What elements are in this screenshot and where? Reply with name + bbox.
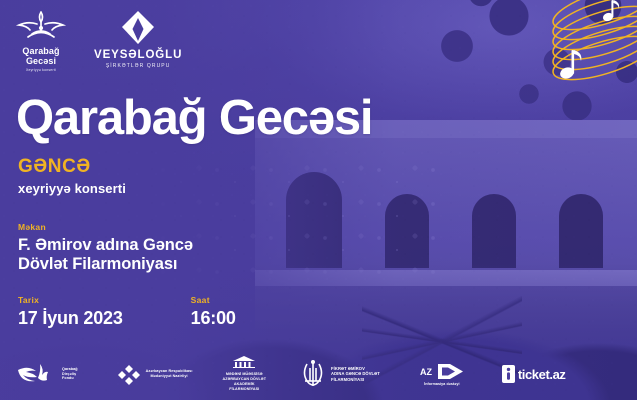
sponsor-line4: FİLARMONİYASI xyxy=(229,387,259,391)
iticket-wordmark: ticket.az xyxy=(518,367,566,382)
event-kicker: xeyriyyə konserti xyxy=(18,182,126,195)
venue-line2: Dövlət Filarmoniyası xyxy=(18,255,177,273)
sponsor-line2: Mədəniyyət Nazirliyi xyxy=(150,374,187,378)
sponsor-line2: ADINA GƏNCƏ DÖVLƏT xyxy=(331,371,380,376)
lyre-icon xyxy=(300,359,326,389)
city-subtitle: GƏNCƏ xyxy=(18,157,91,176)
aztv-mark-text: AZ xyxy=(420,367,432,377)
sponsor-line3: Fondu xyxy=(62,376,74,380)
date-block: Tarix 17 İyun 2023 xyxy=(18,295,123,327)
event-poster: Qarabağ Gecəsi Xeyriyyə konserti VEYSƏLO… xyxy=(0,0,637,400)
aztv-logo-icon: AZ xyxy=(420,363,464,380)
page-title: Qarabağ Gecəsi xyxy=(16,94,372,143)
ticketing-iticket: ticket.az xyxy=(502,365,566,383)
sponsor-dovlet-filarmoniyasi: MƏDƏNİ MÜƏSSİSƏ AZƏRBAYCAN DÖVLƏT AKADEM… xyxy=(222,356,266,392)
veyseloglu-logo-sub: ŞİRKƏTLƏR QRUPU xyxy=(106,63,171,69)
event-details: Məkan F. Əmirov adına Gəncə Dövlət Filar… xyxy=(18,222,236,327)
sponsor-line1: FİKRƏT ƏMİROV xyxy=(331,366,365,371)
qarabag-dircelis-fondu-bird-icon xyxy=(16,361,58,387)
media-partner-caption: İnformasiya dəstəyi xyxy=(424,382,459,386)
sponsor-line1: Azərbaycan Respublikası xyxy=(146,369,193,373)
sponsor-name: FİKRƏT ƏMİROV ADINA GƏNCƏ DÖVLƏT FİLARMO… xyxy=(331,366,380,383)
sponsor-line2: Dirçəliş xyxy=(62,372,76,376)
veyseloglu-logo: VEYSƏLOĞLU ŞİRKƏTLƏR QRUPU xyxy=(94,10,182,69)
date-label: Tarix xyxy=(18,295,123,305)
qarabag-gecesi-logo: Qarabağ Gecəsi Xeyriyyə konserti xyxy=(14,10,68,72)
sponsor-line1: Qarabağ xyxy=(62,367,78,371)
sponsor-bar: Qarabağ Dirçəliş Fondu Azərbaycan Respub… xyxy=(0,348,637,400)
qarabag-gecesi-logo-sub: Xeyriyyə konserti xyxy=(26,68,56,72)
qarabag-gecesi-emblem-icon xyxy=(14,10,68,44)
veyseloglu-diamond-icon xyxy=(120,10,156,46)
sponsor-line3: AKADEMİK xyxy=(234,382,255,386)
venue-value: F. Əmirov adına Gəncə Dövlət Filarmoniya… xyxy=(18,236,236,275)
logo-name-line2: Gecəsi xyxy=(26,56,56,66)
logo-name-line1: Qarabağ xyxy=(22,46,59,56)
sponsor-line1: MƏDƏNİ MÜƏSSİSƏ xyxy=(226,372,263,376)
venue-line1: F. Əmirov adına Gəncə xyxy=(18,236,193,254)
header-logo-group: Qarabağ Gecəsi Xeyriyyə konserti VEYSƏLO… xyxy=(14,10,182,72)
sponsor-line2: AZƏRBAYCAN DÖVLƏT xyxy=(222,377,266,381)
date-time-row: Tarix 17 İyun 2023 Saat 16:00 xyxy=(18,295,236,327)
medeniyyet-nazirliyi-ornament-icon xyxy=(116,363,142,385)
music-staff-swirl-icon xyxy=(507,0,637,114)
sponsor-line3: FİLARMONİYASI xyxy=(331,377,364,382)
time-value: 16:00 xyxy=(191,309,236,327)
filarmoniya-building-icon xyxy=(232,356,256,368)
date-value: 17 İyun 2023 xyxy=(18,309,123,327)
sponsor-name: MƏDƏNİ MÜƏSSİSƏ AZƏRBAYCAN DÖVLƏT AKADEM… xyxy=(222,372,266,392)
qarabag-gecesi-logo-name: Qarabağ Gecəsi xyxy=(22,47,59,66)
time-block: Saat 16:00 xyxy=(191,295,236,327)
sponsor-qarabag-dircelis-fondu: Qarabağ Dirçəliş Fondu xyxy=(16,361,78,387)
veyseloglu-logo-name: VEYSƏLOĞLU xyxy=(94,49,182,61)
iticket-mark-icon xyxy=(502,365,515,383)
media-partner-aztv: AZ İnformasiya dəstəyi xyxy=(420,363,464,386)
sponsor-name: Qarabağ Dirçəliş Fondu xyxy=(62,367,78,382)
venue-label: Məkan xyxy=(18,222,236,232)
time-label: Saat xyxy=(191,295,236,305)
sponsor-fikret-emirov-filarmoniyasi: FİKRƏT ƏMİROV ADINA GƏNCƏ DÖVLƏT FİLARMO… xyxy=(300,359,380,389)
sponsor-name: Azərbaycan Respublikası Mədəniyyət Nazir… xyxy=(146,369,193,379)
sponsor-medeniyyet-nazirliyi: Azərbaycan Respublikası Mədəniyyət Nazir… xyxy=(116,363,193,385)
